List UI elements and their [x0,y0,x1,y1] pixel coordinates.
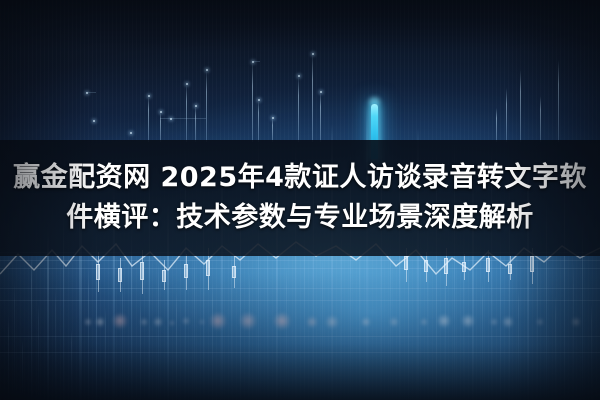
bokeh-light [420,318,428,326]
bokeh-light [571,317,581,327]
bokeh-light [389,317,399,327]
bokeh-light [325,315,339,329]
bokeh-light [239,312,257,330]
bokeh-light [273,312,291,330]
bokeh-light [502,316,514,328]
bokeh-light [361,317,371,327]
bokeh-light [153,317,163,327]
bokeh-light [140,318,148,326]
bokeh-light [95,317,105,327]
bokeh-light [490,318,498,326]
bokeh-light [199,319,205,325]
bokeh-light [169,320,175,326]
bokeh-light [437,314,451,328]
headline-block: 赢金配资网 2025年4款证人访谈录音转文字软 件横评：技术参数与专业场景深度解… [0,140,600,256]
banner-image: 赢金配资网 2025年4款证人访谈录音转文字软 件横评：技术参数与专业场景深度解… [0,0,600,400]
headline-line-2: 件横评：技术参数与专业场景深度解析 [66,201,534,235]
headline-line-1: 赢金配资网 2025年4款证人访谈录音转文字软 [13,161,587,195]
bokeh-light [536,318,544,326]
bokeh-light [84,318,92,326]
bokeh-light [306,316,318,328]
bokeh-light [182,317,190,325]
bokeh-light [112,313,128,329]
bokeh-light [461,314,475,328]
bokeh-light [209,312,227,330]
